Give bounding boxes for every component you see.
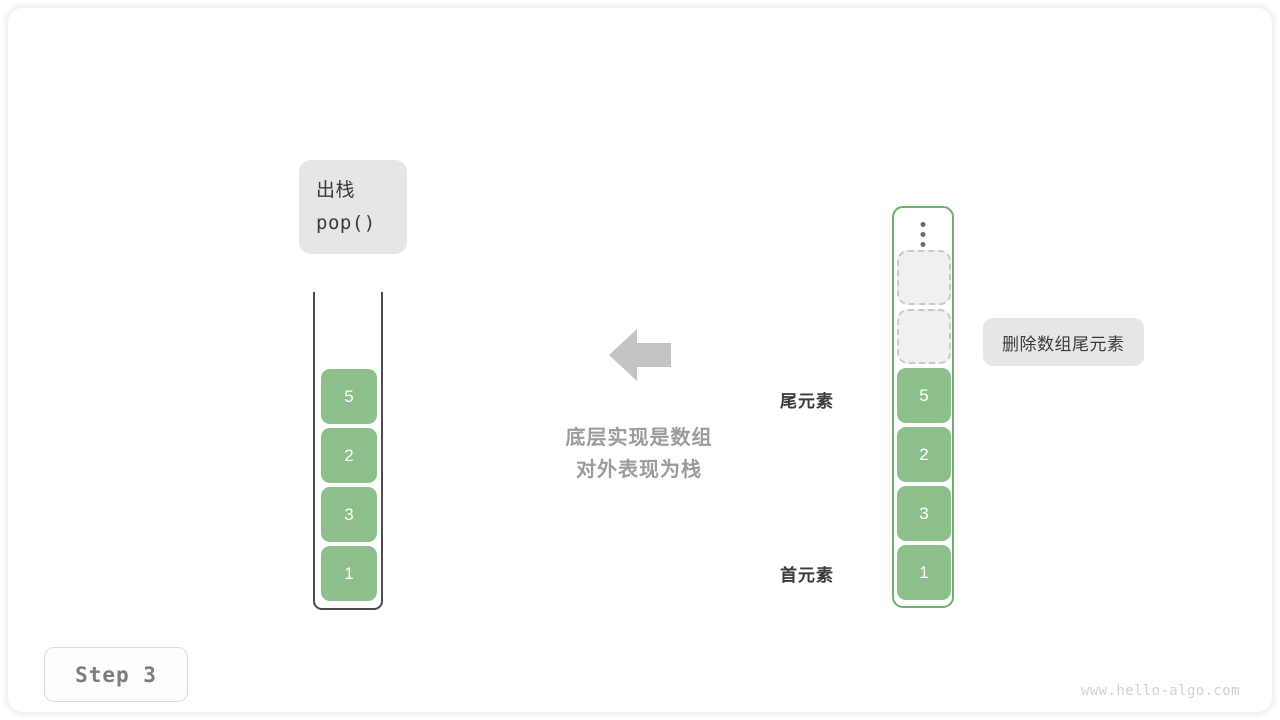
flow-caption: 底层实现是数组 对外表现为栈 <box>479 422 799 486</box>
array-operation-note: 删除数组尾元素 <box>983 318 1144 366</box>
pop-callout-method: pop() <box>316 207 407 240</box>
array-container: 5 2 3 1 <box>892 206 954 608</box>
array-empty-slot <box>897 309 951 364</box>
stack-cell: 2 <box>321 428 377 483</box>
flow-caption-line-1: 底层实现是数组 <box>479 422 799 454</box>
pop-callout-title: 出栈 <box>316 174 407 207</box>
array-cell: 2 <box>897 427 951 482</box>
ellipsis-dot <box>921 222 926 227</box>
step-badge: Step 3 <box>44 647 188 702</box>
array-cell: 1 <box>897 545 951 600</box>
stack-cell-list: 5 2 3 1 <box>321 369 377 601</box>
array-empty-slot <box>897 250 951 305</box>
array-cell: 5 <box>897 368 951 423</box>
ellipsis-dot <box>921 232 926 237</box>
stack-container: 5 2 3 1 <box>313 292 383 610</box>
flow-caption-line-2: 对外表现为栈 <box>479 454 799 486</box>
stack-cell: 5 <box>321 369 377 424</box>
figure-canvas: 出栈 pop() 5 2 3 1 底层实现是数组 对外表现为栈 5 2 3 <box>8 8 1272 712</box>
arrow-left-icon <box>609 326 671 384</box>
ellipsis-dot <box>921 242 926 247</box>
stack-cell: 1 <box>321 546 377 601</box>
pop-operation-callout: 出栈 pop() <box>299 160 407 254</box>
array-cell-list: 5 2 3 1 <box>897 250 951 600</box>
array-cell: 3 <box>897 486 951 541</box>
stack-cell: 3 <box>321 487 377 542</box>
array-tail-label: 尾元素 <box>714 387 834 412</box>
watermark: www.hello-algo.com <box>1081 683 1240 699</box>
vertical-ellipsis-icon <box>921 222 926 247</box>
array-head-label: 首元素 <box>714 561 834 586</box>
